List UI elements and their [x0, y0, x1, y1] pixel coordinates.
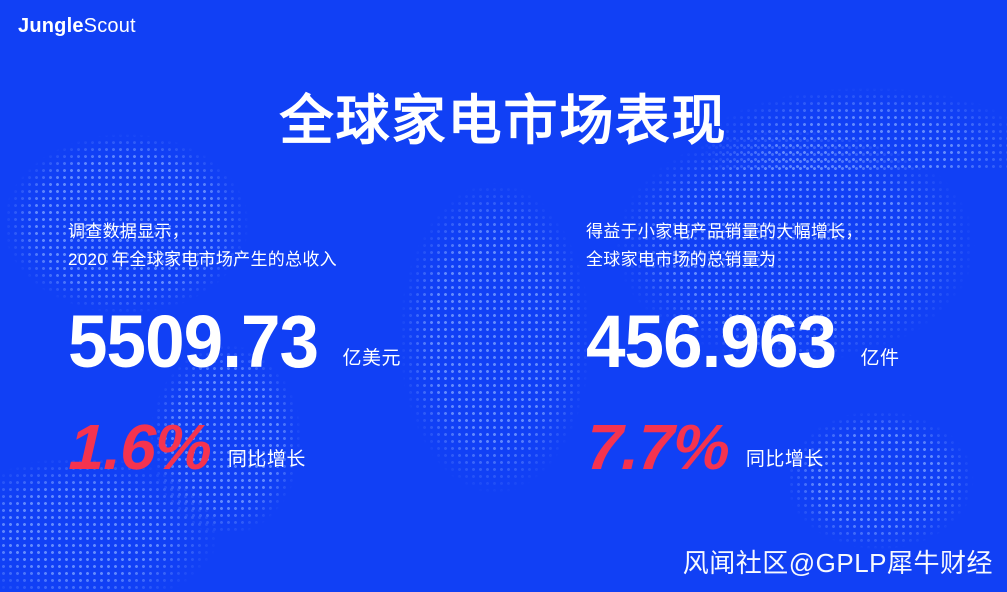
growth-row-revenue: 1.6% 同比增长 [68, 418, 498, 477]
brand-name-primary: Jungle [18, 15, 84, 37]
infographic-slide: JungleScout 全球家电市场表现 调查数据显示， 2020 年全球家电市… [0, 0, 1007, 592]
growth-row-units: 7.7% 同比增长 [586, 418, 1007, 477]
stat-value-row-revenue: 5509.73 亿美元 [68, 308, 498, 376]
growth-value-units: 7.7% [586, 418, 730, 477]
stat-description-units: 得益于小家电产品销量的大幅增长， 全球家电市场的总销量为 [586, 218, 1007, 274]
growth-label-units: 同比增长 [746, 444, 824, 477]
watermark-credit: 风闻社区@GPLP犀牛财经 [683, 543, 993, 580]
growth-value-revenue: 1.6% [68, 418, 212, 477]
stat-unit-revenue: 亿美元 [343, 343, 402, 376]
stat-description-revenue: 调查数据显示， 2020 年全球家电市场产生的总收入 [68, 218, 498, 274]
page-title: 全球家电市场表现 [0, 90, 1007, 152]
brand-logo: JungleScout [18, 16, 136, 36]
stat-value-revenue: 5509.73 [68, 308, 318, 376]
brand-name-secondary: Scout [84, 15, 136, 37]
stat-value-row-units: 456.963 亿件 [586, 308, 1007, 376]
stat-value-units: 456.963 [586, 308, 836, 376]
stat-column-revenue: 调查数据显示， 2020 年全球家电市场产生的总收入 5509.73 亿美元 1… [68, 218, 498, 477]
stat-column-units: 得益于小家电产品销量的大幅增长， 全球家电市场的总销量为 456.963 亿件 … [586, 218, 1007, 477]
growth-label-revenue: 同比增长 [228, 444, 306, 477]
stat-unit-units: 亿件 [861, 343, 900, 376]
